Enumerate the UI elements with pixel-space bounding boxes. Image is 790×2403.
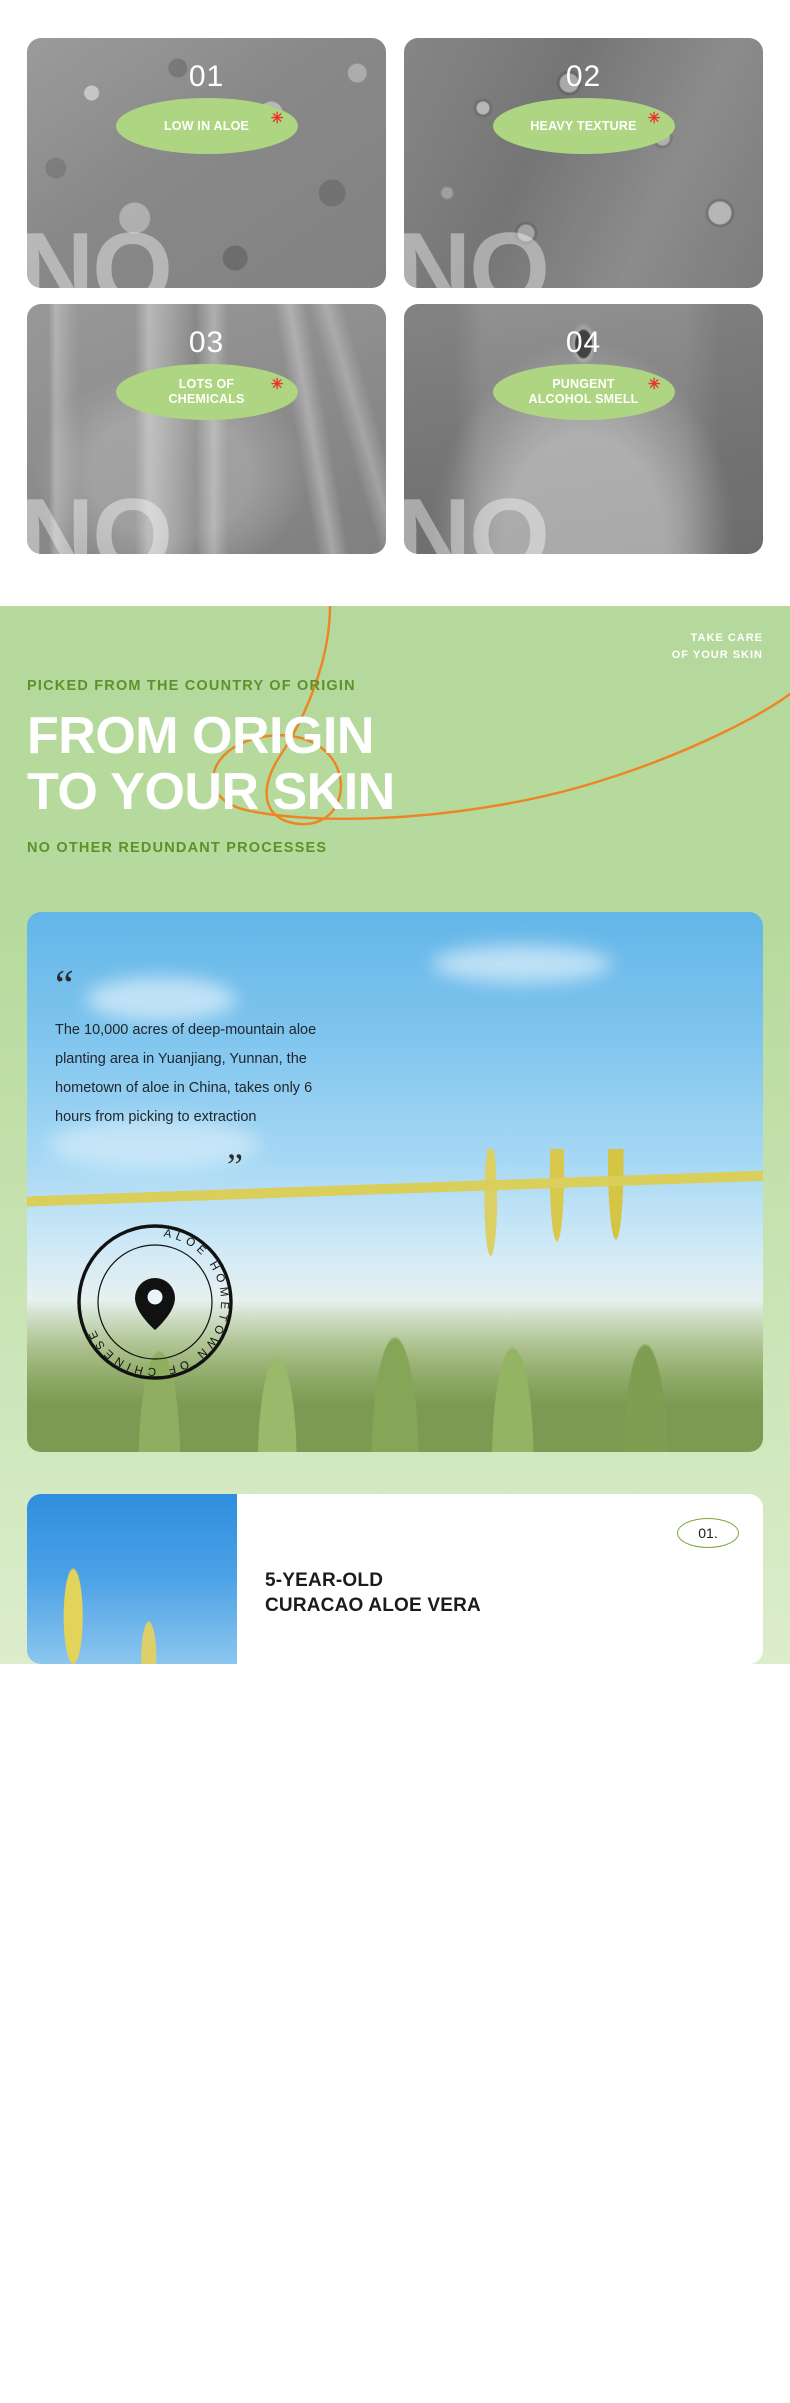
hero-title-line-2: TO YOUR SKIN <box>27 764 763 820</box>
aloe-field-photo-card: “ The 10,000 acres of deep-mountain aloe… <box>27 912 763 1452</box>
hero-subline: NO OTHER REDUNDANT PROCESSES <box>27 840 763 856</box>
no-card-04[interactable]: NO 04 PUNGENTALCOHOL SMELL ✳ <box>404 304 763 554</box>
product-title-line-1: 5-YEAR-OLD <box>265 1568 737 1593</box>
watermark-no: NO <box>27 218 171 288</box>
no-card-01[interactable]: NO 01 LOW IN ALOE ✳ <box>27 38 386 288</box>
open-quote-icon: “ <box>55 974 345 999</box>
hero-title-line-1: FROM ORIGIN <box>27 707 374 765</box>
card-pill-02[interactable]: HEAVY TEXTURE ✳ <box>493 98 675 154</box>
no-card-03[interactable]: NO 03 LOTS OFCHEMICALS ✳ <box>27 304 386 554</box>
card-number: 04 <box>404 326 763 360</box>
product-photo <box>27 1494 237 1664</box>
pill-label: LOW IN ALOE <box>164 119 249 134</box>
close-quote-icon: ” <box>227 1156 345 1178</box>
quote-block: “ The 10,000 acres of deep-mountain aloe… <box>55 974 345 1177</box>
pill-label: HEAVY TEXTURE <box>530 119 636 134</box>
map-pin-icon <box>135 1278 175 1330</box>
card-pill-03[interactable]: LOTS OFCHEMICALS ✳ <box>116 364 298 420</box>
card-number: 02 <box>404 60 763 94</box>
asterisk-icon: ✳ <box>648 111 661 126</box>
watermark-no: NO <box>404 218 548 288</box>
product-index-badge: 01. <box>677 1518 739 1548</box>
no-card-02[interactable]: NO 02 HEAVY TEXTURE ✳ <box>404 38 763 288</box>
take-care-note: TAKE CARE OF YOUR SKIN <box>672 630 763 664</box>
watermark-no: NO <box>404 484 548 554</box>
cloud-shape <box>432 945 612 983</box>
no-cards-grid: NO 01 LOW IN ALOE ✳ NO 02 HEAVY TEXTURE … <box>27 38 763 554</box>
hero-section: TAKE CARE OF YOUR SKIN PICKED FROM THE C… <box>0 606 790 1664</box>
asterisk-icon: ✳ <box>648 377 661 392</box>
product-title: 5-YEAR-OLD CURACAO ALOE VERA <box>265 1568 737 1618</box>
product-title-line-2: CURACAO ALOE VERA <box>265 1593 737 1618</box>
asterisk-icon: ✳ <box>271 111 284 126</box>
pill-label: LOTS OFCHEMICALS <box>168 377 244 407</box>
hero-eyebrow: PICKED FROM THE COUNTRY OF ORIGIN <box>27 678 763 694</box>
quote-text: The 10,000 acres of deep-mountain aloe p… <box>55 1016 345 1132</box>
watermark-no: NO <box>27 484 171 554</box>
take-care-line-1: TAKE CARE <box>672 630 763 647</box>
hero-title: FROM ORIGIN TO YOUR SKIN <box>27 708 763 820</box>
product-card-01[interactable]: 01. 5-YEAR-OLD CURACAO ALOE VERA <box>27 1494 763 1664</box>
card-number: 01 <box>27 60 386 94</box>
no-cards-section: NO 01 LOW IN ALOE ✳ NO 02 HEAVY TEXTURE … <box>0 0 790 606</box>
page-root: NO 01 LOW IN ALOE ✳ NO 02 HEAVY TEXTURE … <box>0 0 790 1664</box>
asterisk-icon: ✳ <box>271 377 284 392</box>
take-care-line-2: OF YOUR SKIN <box>672 647 763 664</box>
card-pill-01[interactable]: LOW IN ALOE ✳ <box>116 98 298 154</box>
pill-label: PUNGENTALCOHOL SMELL <box>528 377 638 407</box>
hero-text-block: PICKED FROM THE COUNTRY OF ORIGIN FROM O… <box>0 678 790 856</box>
card-number: 03 <box>27 326 386 360</box>
card-pill-04[interactable]: PUNGENTALCOHOL SMELL ✳ <box>493 364 675 420</box>
product-card-body: 01. 5-YEAR-OLD CURACAO ALOE VERA <box>237 1494 763 1664</box>
aloe-hometown-seal-badge: ALOE HOMETOWN OF CHINESE <box>75 1222 235 1382</box>
